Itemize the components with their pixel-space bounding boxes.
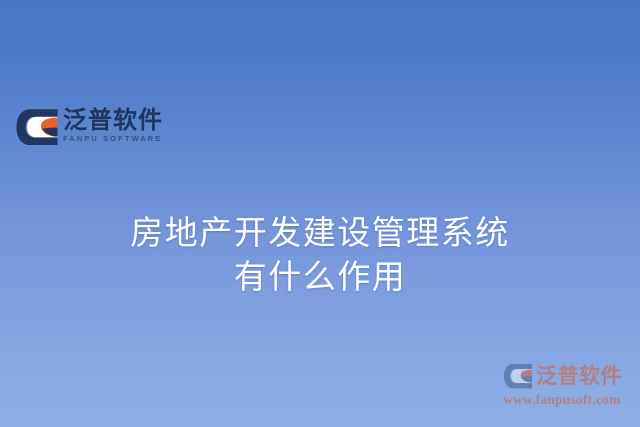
watermark-brand-row: 泛普软件 — [503, 362, 640, 390]
fanpu-logo-icon — [16, 108, 58, 146]
slide-canvas: 泛普软件 FANPU SOFTWARE 房地产开发建设管理系统 有什么作用 泛普… — [0, 0, 640, 427]
watermark-name-cn: 泛普软件 — [536, 366, 622, 387]
brand-name-cn: 泛普软件 — [63, 108, 163, 132]
page-title: 房地产开发建设管理系统 有什么作用 — [0, 211, 640, 299]
page-title-line-2: 有什么作用 — [0, 255, 640, 299]
watermark-url: www.fanpusoft.com — [503, 392, 640, 408]
brand-name-en: FANPU SOFTWARE — [63, 135, 163, 143]
fanpu-logo-icon — [503, 363, 533, 389]
brand-logo: 泛普软件 FANPU SOFTWARE — [16, 107, 152, 153]
page-title-line-1: 房地产开发建设管理系统 — [0, 211, 640, 255]
watermark: 泛普软件 www.fanpusoft.com — [503, 362, 640, 408]
brand-wordmark: 泛普软件 FANPU SOFTWARE — [63, 107, 163, 143]
